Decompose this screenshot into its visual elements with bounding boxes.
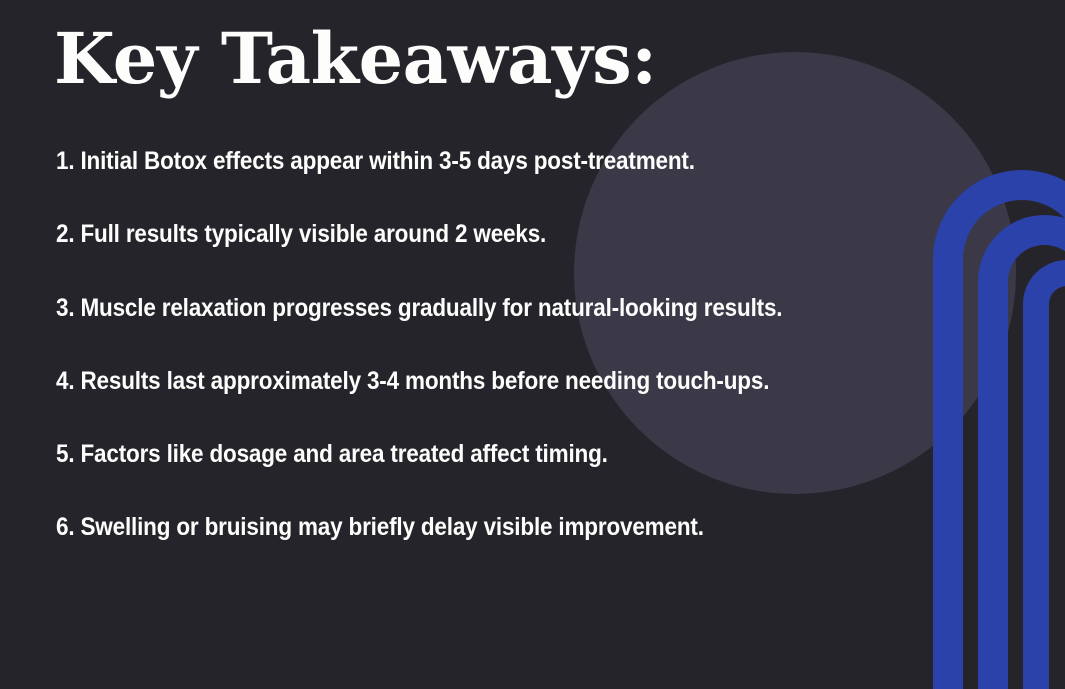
slide-canvas: Key Takeaways: 1. Initial Botox effects … — [0, 0, 1065, 689]
list-item: 1. Initial Botox effects appear within 3… — [56, 148, 848, 174]
list-item: 4. Results last approximately 3-4 months… — [56, 368, 848, 394]
page-title: Key Takeaways: — [54, 22, 657, 96]
arch-ring-inner-icon — [1023, 260, 1065, 689]
arch-decoration-group — [925, 170, 1065, 689]
list-item: 2. Full results typically visible around… — [56, 221, 848, 247]
list-item: 6. Swelling or bruising may briefly dela… — [56, 514, 848, 540]
takeaway-list: 1. Initial Botox effects appear within 3… — [56, 148, 936, 541]
list-item: 5. Factors like dosage and area treated … — [56, 441, 848, 467]
list-item: 3. Muscle relaxation progresses graduall… — [56, 295, 848, 321]
